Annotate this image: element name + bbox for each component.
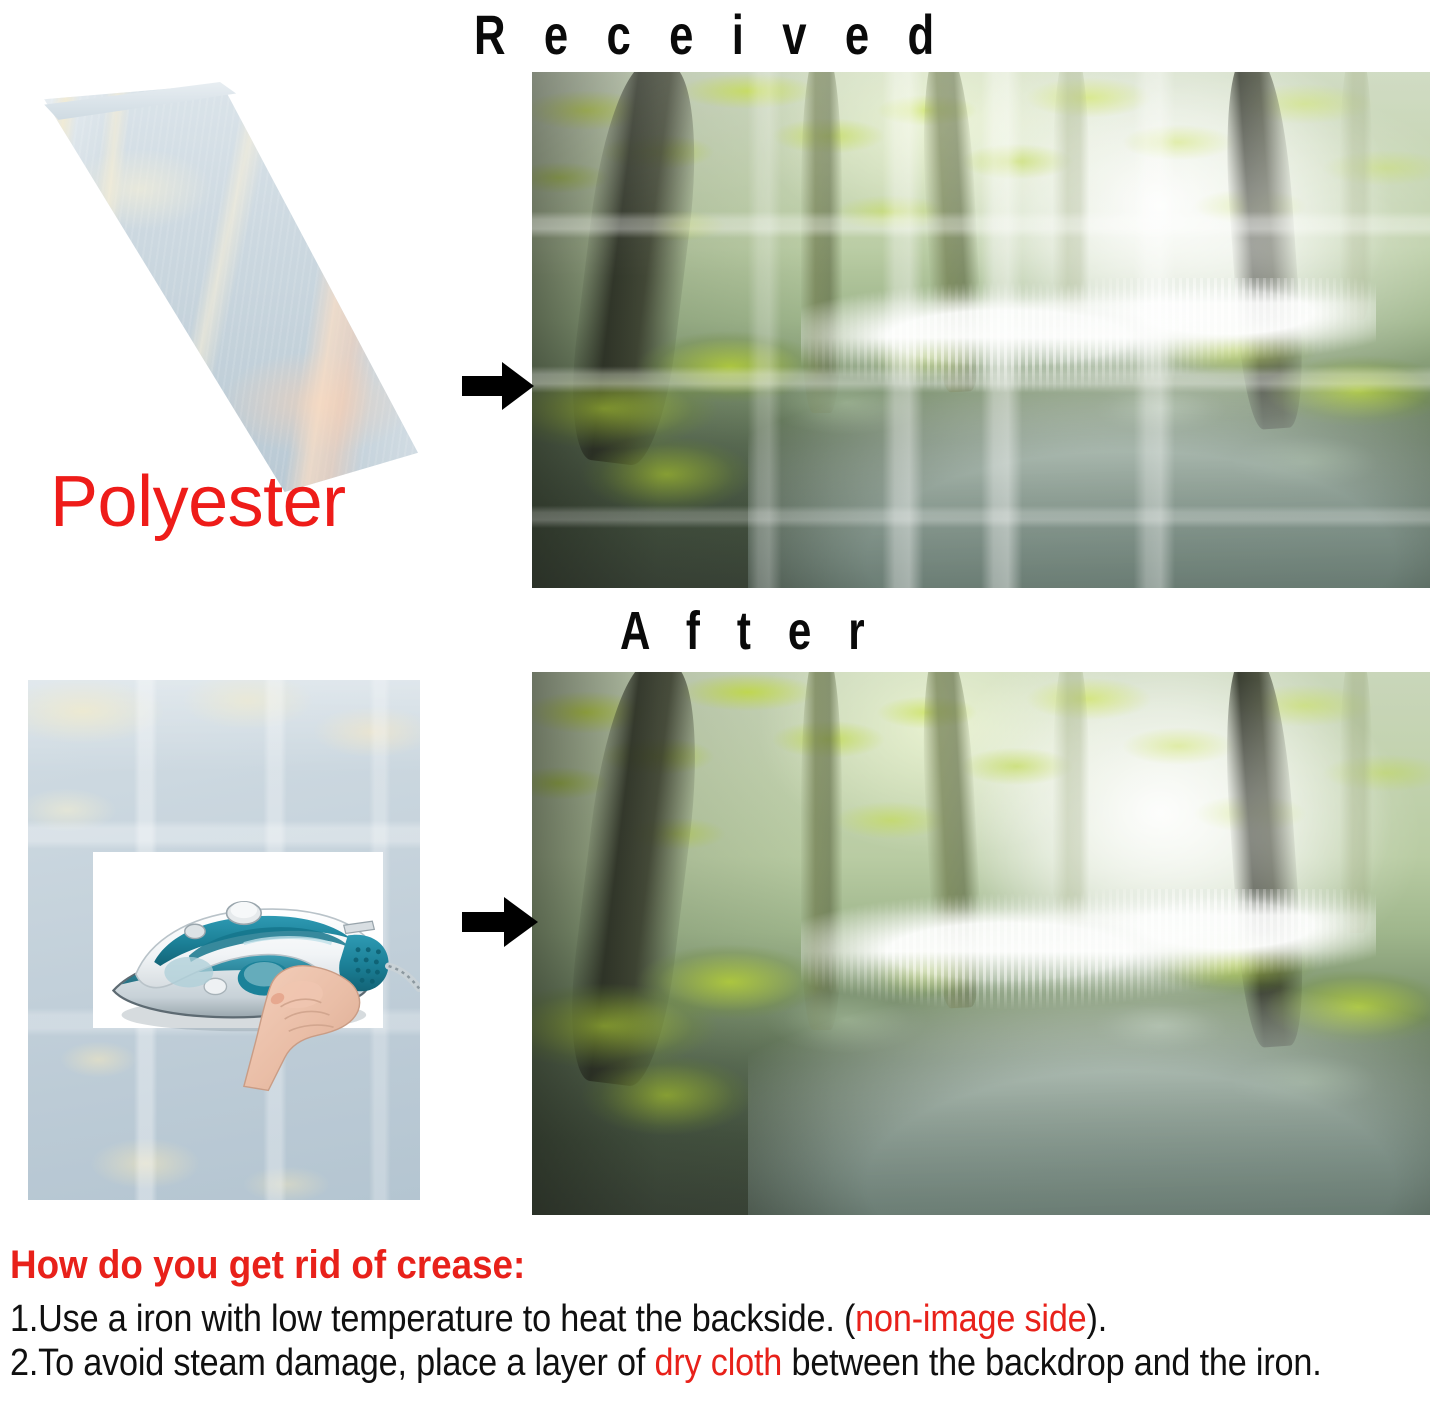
care-step-2-text-after: between the backdrop and the iron. [782,1342,1321,1384]
care-step-1-text-after: ). [1087,1298,1108,1340]
received-backdrop-photo [532,72,1430,588]
after-backdrop-photo [532,672,1430,1215]
right-arrow-icon [462,893,538,951]
care-step-1: 1.Use a iron with low temperature to hea… [10,1297,1288,1341]
polyester-material-label: Polyester [50,461,346,543]
fabric-print-grain [18,82,422,494]
care-instructions: How do you get rid of crease: 1.Use a ir… [10,1243,1430,1385]
scene-light-haze [532,72,1430,588]
care-step-2-text-before: 2.To avoid steam damage, place a layer o… [10,1342,655,1384]
steam-iron-with-hand [91,846,397,1080]
care-instructions-heading: How do you get rid of crease: [10,1243,1316,1288]
scene-light-haze [532,672,1430,1215]
care-step-1-highlight: non-image side [855,1298,1086,1340]
after-section-title: A f t e r [620,600,877,662]
care-step-2-highlight: dry cloth [655,1342,783,1384]
received-section-title: R e c e i v e d [474,2,947,67]
infographic-page: R e c e i v e d Polyester A f t [0,0,1436,1402]
right-arrow-icon [462,358,534,414]
ironing-demo-panel [28,680,420,1200]
care-step-2: 2.To avoid steam damage, place a layer o… [10,1341,1288,1385]
folded-fabric-swatch [18,82,422,494]
care-step-1-text-before: 1.Use a iron with low temperature to hea… [10,1298,855,1340]
